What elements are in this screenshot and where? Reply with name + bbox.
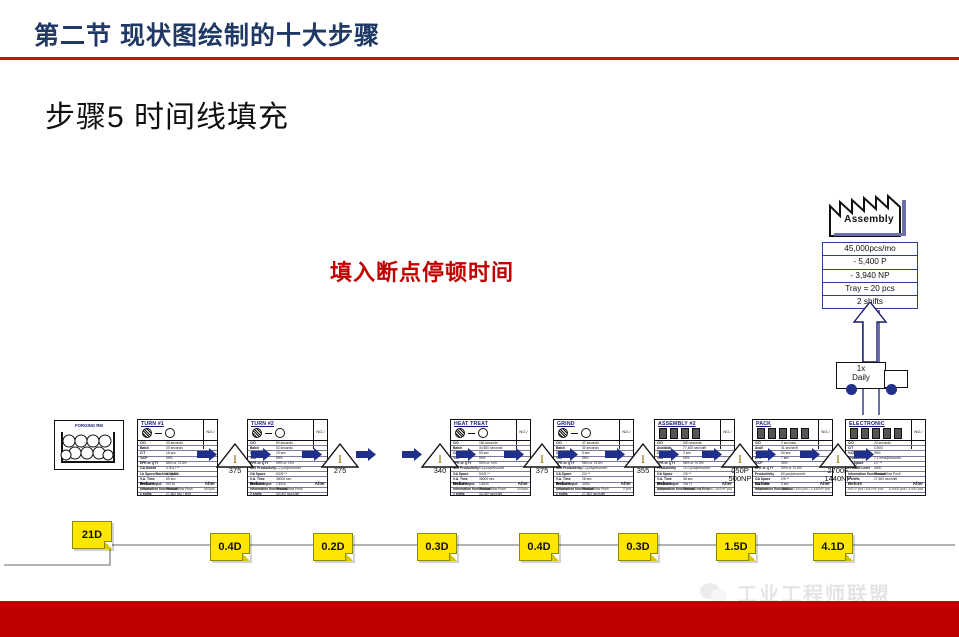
lead-time-box[interactable]: 0.2D [313,533,353,561]
process-data-value: 5/2/5 ** [276,472,287,476]
inventory-triangle[interactable]: I340 [420,442,460,488]
process-data-value: Product flow Push [874,472,901,476]
process-data-value: 47 seconds [582,441,599,445]
process-header: TURN #1NO./ [138,420,217,441]
process-footer: BeforeAfter470pcs0 pcs [554,481,633,495]
sticky-fold [748,553,756,561]
process-data-value: 5/2/5/25 [166,472,178,476]
process-data-value: 4000 [874,466,881,470]
process-title: HEAT TREAT [454,421,488,427]
inventory-triangle-icon: I [320,442,360,468]
after-value: 660pcs [204,487,215,491]
process-data-value: 80 pcs/person/hr [781,472,806,476]
process-header: ELECTRONICNO./ [846,420,925,441]
shipment-frequency: 1x Daily [836,362,886,389]
process-data-value: 95% [582,456,589,460]
inventory-triangle-icon: I [818,442,858,468]
process-footer: BeforeAfter195pcs660pcs [138,481,217,495]
process-title: TURN #2 [251,421,274,427]
lead-time-box[interactable]: 21D [72,521,112,549]
lead-time-box[interactable]: 0.3D [417,533,457,561]
process-footer: BeforeAfter [248,481,327,495]
process-data-value: 34,500 seconds [479,446,502,450]
process-data-value: 30 seconds [166,446,183,450]
process-data-value: 95% [781,461,788,465]
process-data-value: 7.1 mins/person/hr [874,456,901,460]
process-title: PACK [756,421,771,427]
process-data-key: %CP [140,456,148,460]
process-machine-icon [252,428,285,438]
inventory-triangle[interactable]: I375 [522,442,562,488]
sticky-fold [551,553,559,561]
lead-time-box[interactable]: 4.1D [813,533,853,561]
after-value: 5,4000 pcs / 3,940 pcs [889,487,923,491]
customer-row: 45,000pcs/mo [823,243,917,256]
process-data-value: 90% [479,456,486,460]
sticky-fold [242,553,250,561]
process-data-key: OA Downt [140,466,156,470]
inventory-qty: 275 [320,467,360,475]
raw-material-stack-icon [59,430,117,464]
push-arrow-icon [702,448,722,461]
svg-text:I: I [233,452,237,466]
push-arrow-icon [504,448,524,461]
process-data-value: C/500 [874,446,883,450]
push-arrow-icon [197,448,217,461]
process-data-value: 2 sec [683,451,691,455]
sticky-fold [650,553,658,561]
svg-text:I: I [438,452,442,466]
process-data-value: 90% [683,456,690,460]
lead-time-value: 4.1D [821,541,844,553]
process-header: GRINDNO./ [554,420,633,441]
process-data-key: EPE or QTY [140,461,159,465]
inventory-triangle[interactable]: I355 [623,442,663,488]
svg-text:I: I [836,452,840,466]
process-header: HEAT TREATNO./ [451,420,530,441]
process-header: PACKNO./ [753,420,832,441]
process-data-value: 16 sec [166,451,176,455]
process-data-value: 2/5 ** [683,472,691,476]
lead-time-value: 0.4D [527,541,550,553]
process-machine-icon [142,428,175,438]
inventory-triangle[interactable]: I2700F1440NP [818,442,858,488]
truck-wheel [846,384,857,395]
shipment-frequency-line2: Daily [837,373,885,382]
value-stream-map: Assembly 45,000pcs/mo - 5,400 P - 3,940 … [0,170,959,580]
process-data-key: C/O [140,441,146,445]
raw-material-inventory: FORGING RM [54,420,124,470]
lead-time-ladder: 21D0.4D0.2D0.3D0.4D0.3D1.5D4.1D [0,515,959,575]
process-title: ASSEMBLY #2 [658,421,696,427]
process-data-value: 50 sec [479,451,489,455]
process-title: TURN #1 [141,421,164,427]
inventory-triangle[interactable]: I275 [320,442,360,488]
process-data-value: 12.0 pcs/person/hr [683,466,710,470]
process-data-value: 1.2 pcs/person/hr [276,466,301,470]
process-machine-icon [757,428,809,439]
lead-time-value: 0.3D [425,541,448,553]
customer-factory-icon: Assembly [824,192,914,237]
process-machine-icon [558,428,591,438]
customer-label: Assembly [824,214,914,225]
process-data-value: 1.2 pcs/person/hr [582,466,607,470]
lead-time-value: 0.4D [218,541,241,553]
process-data-value: 20 seconds [874,441,891,445]
svg-text:I: I [738,452,742,466]
before-label: Before [140,481,154,486]
inventory-triangle-icon: I [420,442,460,468]
truck-wheel [886,384,897,395]
process-data-value: 2 seconds [781,441,796,445]
process-data-value: 90% or 74% [276,461,294,465]
page-subtitle: 步骤5 时间线填充 [45,92,289,136]
process-data-value: 90% or 70.5% [781,466,802,470]
push-arrow-icon [659,448,679,461]
process-data-value: 0.0017 ** [166,466,180,470]
process-title: ELECTRONIC [849,421,885,427]
svg-text:I: I [641,452,645,466]
lead-time-value: 0.3D [626,541,649,553]
process-data-value: 50 seconds [276,441,293,445]
process-data-value: 85% or 72.5% [166,461,187,465]
process-footer: BeforeAfter300pcs [451,481,530,495]
lead-time-value: 1.5D [724,541,747,553]
inventory-triangle[interactable]: I375 [215,442,255,488]
push-arrow-icon [558,448,578,461]
process-data-value: 30 seconds [166,441,183,445]
process-data-value: 0.8 pcs/person/hr [479,466,504,470]
sticky-fold [345,553,353,561]
shipment-frequency-line1: 1x [837,364,885,373]
sticky-fold [104,541,112,549]
truck-icon: 1x Daily [836,362,908,396]
raw-material-label: FORGING RM [55,423,123,428]
process-data-value: 500 seconds [683,441,702,445]
lead-time-box[interactable]: 1.5D [716,533,756,561]
inventory-triangle[interactable]: I050P500NP [720,442,760,488]
process-data-value: 95% [276,456,283,460]
after-label: After [913,481,923,486]
after-label: After [205,481,215,486]
process-machine-icon [455,428,488,438]
process-data-value: 95% [874,451,881,455]
process-data-value: 98% or 70.5% [683,461,704,465]
process-data-value: 95% [166,456,173,460]
lead-time-value: 0.2D [321,541,344,553]
push-arrow-icon [756,448,776,461]
process-data-value: 5 sec [582,451,590,455]
process-machine-icon [850,428,902,439]
process-data-value: 98% or 75.5% [582,461,603,465]
inventory-qty: 340 [420,467,460,475]
process-data-key: Batch [140,446,149,450]
inventory-triangle-icon: I [623,442,663,468]
sticky-fold [845,553,853,561]
process-data-value: 50 sec [781,451,791,455]
process-data-value: 41 sec/shift [781,446,798,450]
lead-time-box[interactable]: 0.4D [210,533,250,561]
process-header: ASSEMBLY #2NO./ [655,420,734,441]
process-data-value: 90% or 74% [479,461,497,465]
customer-row: - 3,940 NP [823,270,917,283]
inventory-qty: 355 [623,467,663,475]
inventory-triangle-icon: I [720,442,760,468]
push-arrow-icon [302,448,322,461]
process-data-value: 7 sec [781,456,789,460]
push-arrow-icon [251,448,271,461]
inventory-qty: 050P500NP [720,467,760,483]
process-data-value: 23 sec [276,451,286,455]
push-arrow-icon [456,448,476,461]
process-data-value: 52 seconds [276,446,293,450]
svg-text:I: I [338,452,342,466]
inventory-qty: 2700F1440NP [818,467,858,483]
inventory-triangle-icon: I [522,442,562,468]
process-machine-icon [659,428,700,439]
push-arrow-icon [402,448,422,461]
process-header: TURN #2NO./ [248,420,327,441]
lead-time-value: 21D [82,529,102,541]
lead-time-box[interactable]: 0.3D [618,533,658,561]
inventory-qty: 375 [522,467,562,475]
slide-root: 第二节 现状图绘制的十大步骤 步骤5 时间线填充 填入断点停顿时间 Assemb… [0,0,959,637]
process-data-value: 30 seconds [582,446,599,450]
header-divider [0,57,959,60]
footer-bar [0,601,959,637]
before-value: 195pcs [140,487,151,491]
process-data-value: 5/2/5 ** [479,472,490,476]
shipment-arrow-icon [852,302,888,362]
process-data-key: C/T [140,451,145,455]
sticky-fold [449,553,457,561]
customer-data-box: 45,000pcs/mo - 5,400 P - 3,940 NP Tray =… [822,242,918,309]
customer-row: - 5,400 P [823,256,917,269]
svg-text:I: I [540,452,544,466]
process-data-value: 160 seconds [479,441,498,445]
inventory-triangle-icon: I [215,442,255,468]
page-title: 第二节 现状图绘制的十大步骤 [34,16,380,52]
push-arrow-icon [854,448,874,461]
inventory-qty: 375 [215,467,255,475]
process-data-value: 2/4 ** [582,472,590,476]
process-data-value: 2/7 ** [874,461,882,465]
push-arrow-icon [356,448,376,461]
customer-row: Tray = 20 pcs [823,283,917,296]
push-arrow-icon [605,448,625,461]
lead-time-box[interactable]: 0.4D [519,533,559,561]
process-title: GRIND [557,421,575,427]
push-arrow-icon [800,448,820,461]
